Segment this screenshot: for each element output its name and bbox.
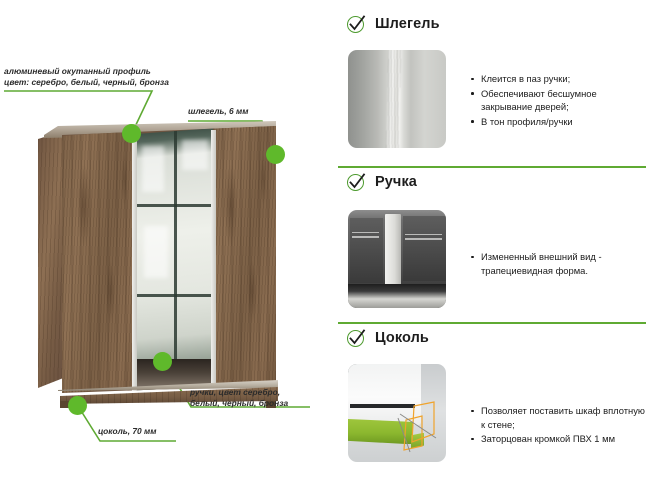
- card-title-handle: Ручка: [375, 172, 417, 193]
- callout-label-profile: алюминевый окутанный профиль цвет: сереб…: [4, 66, 169, 88]
- card-bullets-plinth: Позволяет поставить шкаф вплотную к стен…: [470, 404, 646, 447]
- feature-cards-panel: Шлегель Клеится в паз ручки; Обеспечиваю…: [332, 0, 652, 500]
- callout-handles-line2: белый, черный, бронза: [190, 398, 288, 409]
- card-divider-1: [338, 166, 646, 168]
- card-header-handle: Ручка: [346, 172, 417, 193]
- check-circle-icon: [346, 172, 367, 193]
- check-circle-icon: [346, 328, 367, 349]
- card-header-shlegel: Шлегель: [346, 14, 440, 35]
- wardrobe-side-panel: [38, 131, 64, 388]
- callout-dot-profile: [122, 124, 141, 143]
- feature-card-shlegel: Шлегель Клеится в паз ручки; Обеспечиваю…: [332, 14, 652, 166]
- plinth-annotation-overlay: [348, 364, 446, 462]
- wardrobe-door-mirror: [136, 126, 216, 393]
- wardrobe-door-area: [62, 126, 276, 393]
- bullet-item: Позволяет поставить шкаф вплотную к стен…: [470, 404, 646, 431]
- callout-label-handles: ручки, цвет серебро, белый, черный, брон…: [190, 387, 288, 409]
- card-bullets-handle: Измененный внешний вид - трапециевидная …: [470, 250, 646, 278]
- bullet-item: Измененный внешний вид - трапециевидная …: [470, 250, 646, 277]
- card-title-shlegel: Шлегель: [375, 14, 440, 35]
- callout-profile-line1: алюминевый окутанный профиль: [4, 66, 169, 77]
- check-circle-icon: [346, 14, 367, 35]
- callout-shlegel-line1: шлегель, 6 мм: [188, 106, 248, 117]
- wardrobe-door-left: [62, 126, 140, 393]
- callout-dot-shlegel: [266, 145, 285, 164]
- callout-handles-line1: ручки, цвет серебро,: [190, 387, 288, 398]
- wardrobe-profile-frame-left: [132, 132, 137, 393]
- bullet-item: Клеится в паз ручки;: [470, 72, 646, 86]
- card-thumbnail-plinth: [348, 364, 446, 462]
- callout-profile-line2: цвет: серебро, белый, черный, бронза: [4, 77, 169, 88]
- callout-dot-plinth: [68, 396, 87, 415]
- card-title-plinth: Цоколь: [375, 328, 429, 349]
- callout-dot-handles: [153, 352, 172, 371]
- bullet-item: Заторцован кромкой ПВХ 1 мм: [470, 432, 646, 446]
- card-thumbnail-handle: [348, 210, 446, 308]
- slide-root: алюминевый окутанный профиль цвет: сереб…: [0, 0, 652, 500]
- product-illustration-panel: алюминевый окутанный профиль цвет: сереб…: [0, 0, 332, 500]
- bullet-item: Обеспечивают бесшумное закрывание дверей…: [470, 87, 646, 114]
- wardrobe-door-right: [213, 126, 276, 393]
- feature-card-handle: Ручка Измененный внешний вид - трапециев…: [332, 172, 652, 322]
- wardrobe-profile-frame-right: [211, 130, 216, 393]
- callout-label-plinth: цоколь, 70 мм: [98, 426, 156, 437]
- card-thumbnail-shlegel: [348, 50, 446, 148]
- card-header-plinth: Цоколь: [346, 328, 429, 349]
- feature-card-plinth: Цоколь Позволяет поставить шкаф вплотную…: [332, 328, 652, 498]
- bullet-item: В тон профиля/ручки: [470, 115, 646, 129]
- card-divider-2: [338, 322, 646, 324]
- callout-label-shlegel: шлегель, 6 мм: [188, 106, 248, 117]
- callout-plinth-line1: цоколь, 70 мм: [98, 426, 156, 437]
- card-bullets-shlegel: Клеится в паз ручки; Обеспечивают бесшум…: [470, 72, 646, 129]
